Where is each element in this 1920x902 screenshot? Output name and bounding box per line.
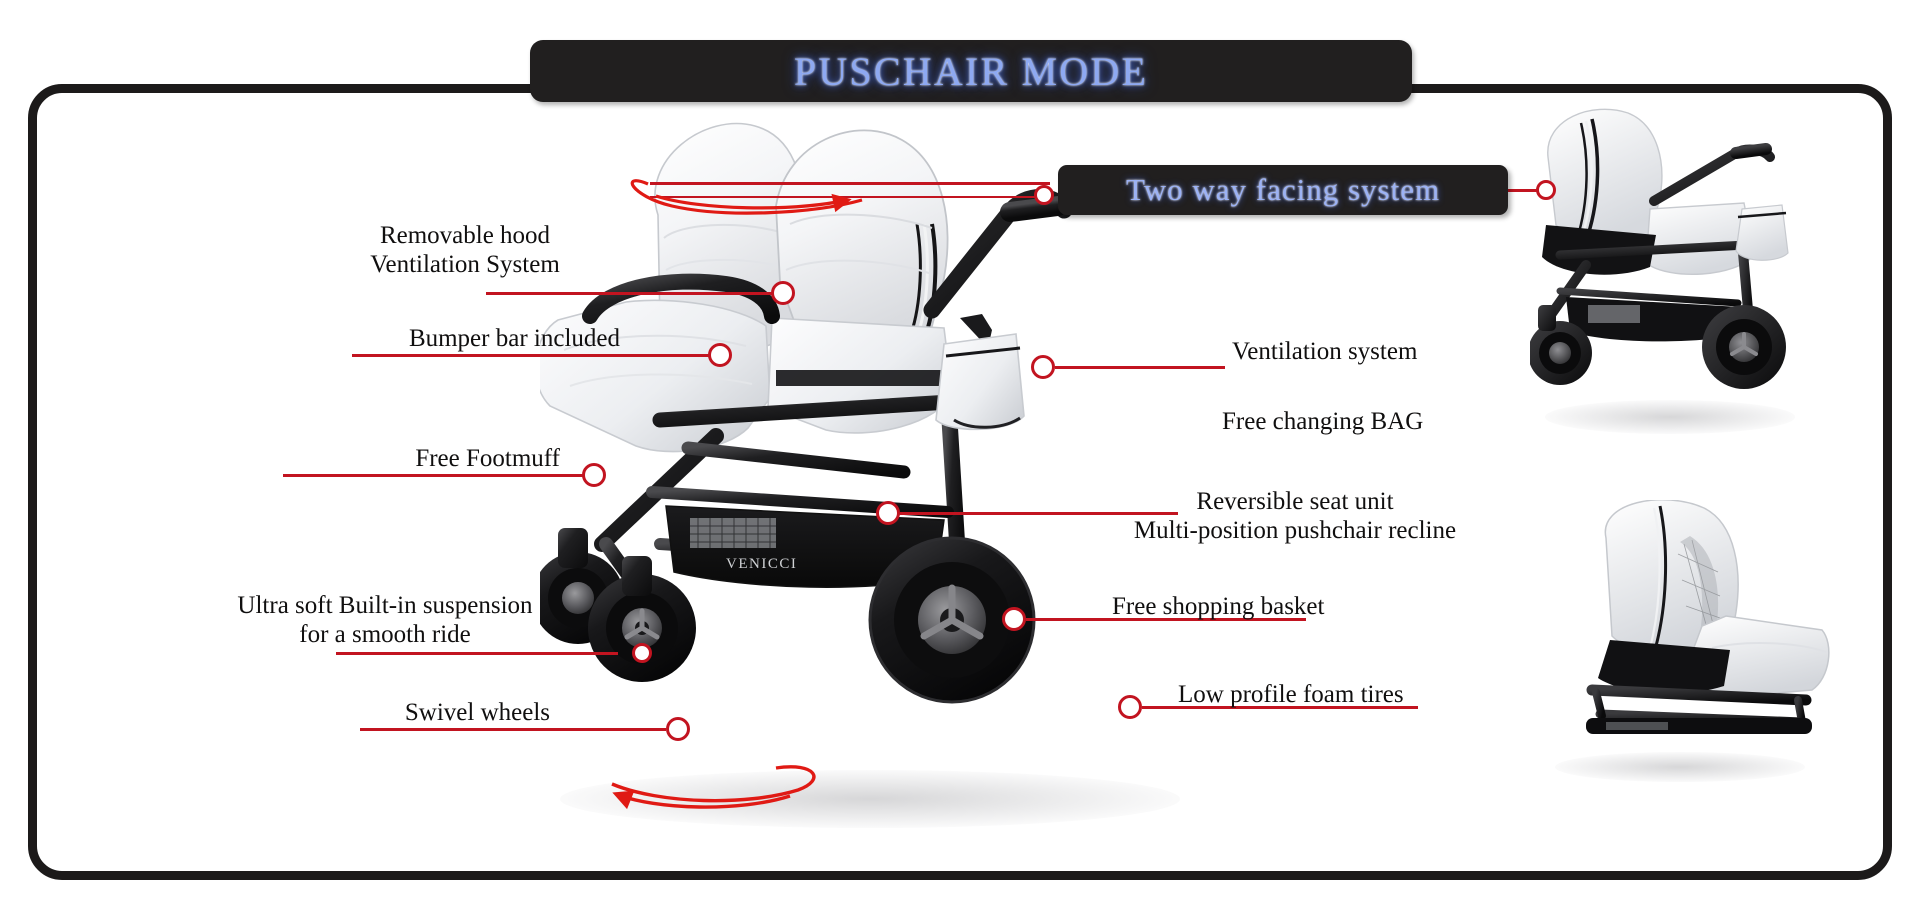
marker-two-way-left xyxy=(1034,185,1054,205)
leader-line-ventilation-system xyxy=(1055,366,1225,369)
leader-line-swivel-wheels xyxy=(360,728,666,731)
callout-bumper-bar: Bumper bar included xyxy=(300,325,620,354)
marker-free-footmuff xyxy=(582,463,606,487)
changing-bag xyxy=(936,314,1024,429)
thumb-carrycot xyxy=(1540,500,1840,770)
callout-foam-tires: Low profile foam tires xyxy=(1178,681,1498,710)
footmuff xyxy=(540,300,770,451)
leader-line-two-way-left-a xyxy=(650,182,1050,185)
marker-foam-tires xyxy=(1118,695,1142,719)
leader-line-bumper-bar xyxy=(352,354,719,357)
marker-bumper-bar xyxy=(708,343,732,367)
thumb2-svg xyxy=(1540,500,1840,770)
pushchair-side-view: VENICCI xyxy=(540,120,1220,800)
marker-two-way-right xyxy=(1536,180,1556,200)
thumb-pushchair-forward xyxy=(1530,105,1830,405)
main-product-image: VENICCI xyxy=(540,120,1220,800)
leader-line-free-footmuff xyxy=(283,474,593,477)
two-way-facing-banner: Two way facing system xyxy=(1058,165,1508,215)
two-way-facing-label: Two way facing system xyxy=(1126,172,1440,208)
marker-ventilation-system xyxy=(1031,355,1055,379)
marker-reversible-seat xyxy=(876,501,900,525)
leader-line-two-way-left-b xyxy=(650,196,1050,198)
title-banner: PUSCHAIR MODE xyxy=(530,40,1412,102)
marker-suspension xyxy=(632,643,652,663)
brand-logo-text: VENICCI xyxy=(726,556,797,572)
callout-changing-bag: Free changing BAG xyxy=(1222,408,1522,437)
leader-line-suspension xyxy=(336,652,618,655)
callout-swivel-wheels: Swivel wheels xyxy=(330,699,550,728)
page-title: PUSCHAIR MODE xyxy=(794,48,1148,95)
infographic-canvas: PUSCHAIR MODE xyxy=(0,0,1920,902)
leader-line-removable-hood xyxy=(486,292,781,295)
marker-swivel-wheels xyxy=(666,717,690,741)
leader-line-two-way-right xyxy=(1508,189,1538,192)
callout-removable-hood: Removable hood Ventilation System xyxy=(330,222,600,279)
callout-shopping-basket: Free shopping basket xyxy=(1112,593,1432,622)
callout-ventilation-system: Ventilation system xyxy=(1232,338,1532,367)
marker-shopping-basket xyxy=(1002,607,1026,631)
thumb1-shadow xyxy=(1545,400,1795,434)
callout-reversible-seat: Reversible seat unit Multi-position push… xyxy=(1110,488,1480,545)
callout-free-footmuff: Free Footmuff xyxy=(220,445,560,474)
thumb1-svg xyxy=(1530,105,1830,405)
callout-suspension: Ultra soft Built-in suspension for a smo… xyxy=(210,592,560,649)
marker-removable-hood xyxy=(771,281,795,305)
